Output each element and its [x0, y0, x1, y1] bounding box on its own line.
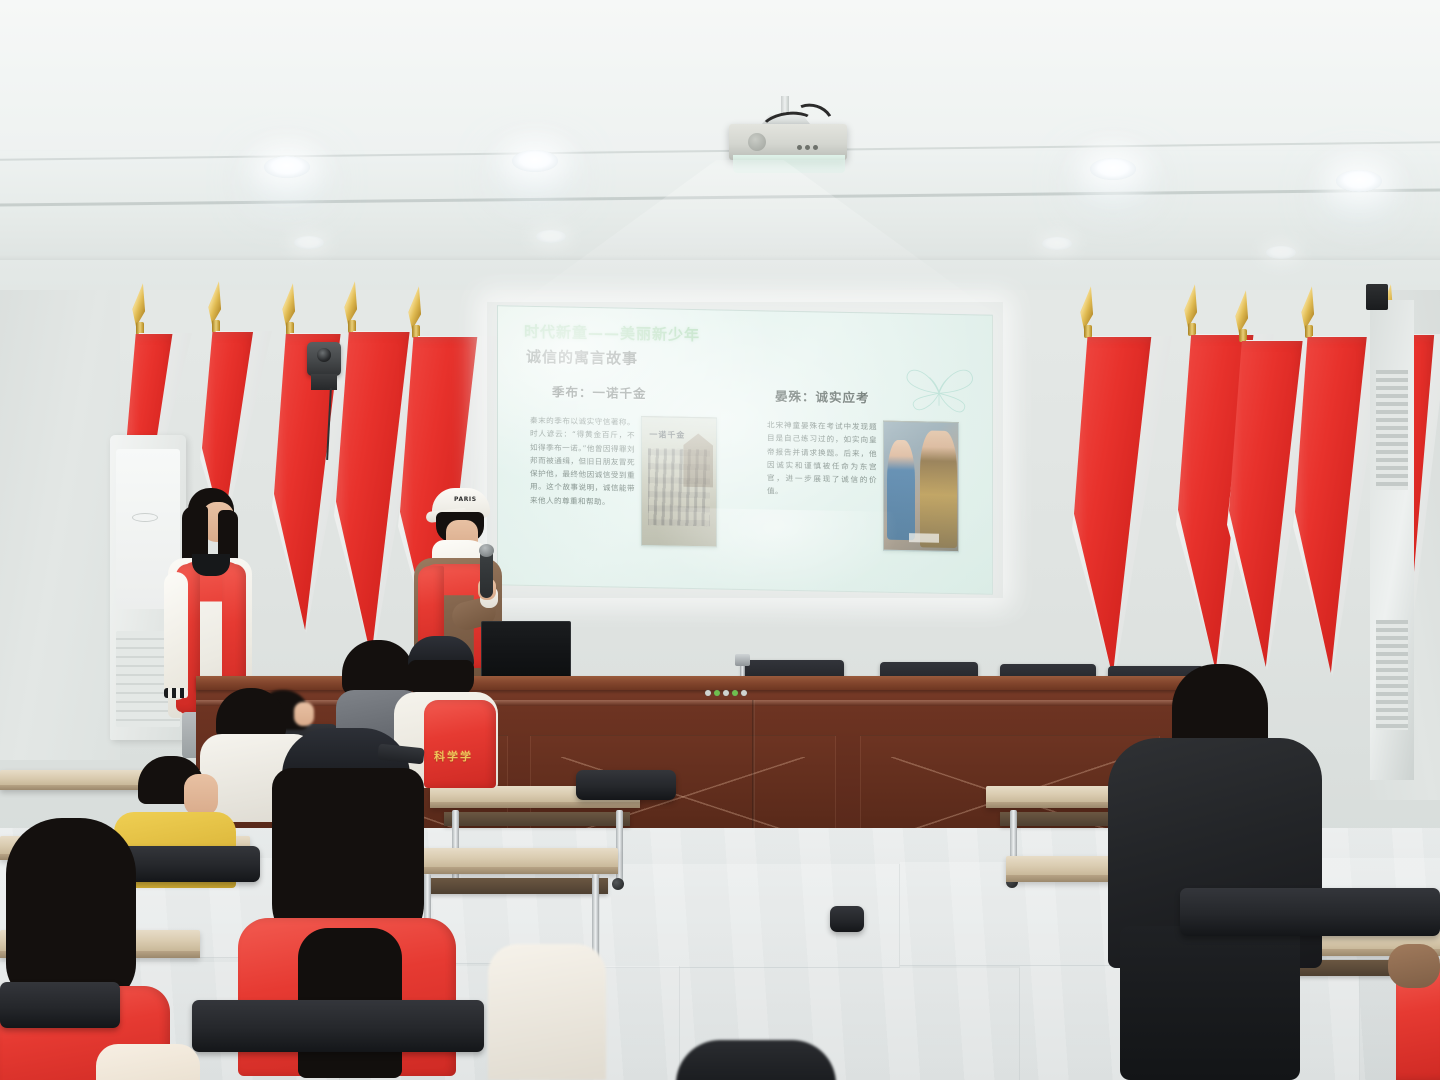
- ceiling-downlight: [1266, 246, 1296, 259]
- ceiling-downlight: [1090, 158, 1136, 180]
- slide-image-caption: 一诺千金: [649, 429, 685, 441]
- projector-lens: [748, 133, 766, 151]
- slide-column-heading: 季布：一诺千金: [552, 381, 730, 403]
- ceiling-downlight: [1042, 237, 1072, 250]
- audience-adult-right: [1096, 664, 1326, 1080]
- student-seat: [830, 906, 864, 932]
- ceiling-downlight: [294, 236, 324, 249]
- student-seat: [0, 982, 120, 1028]
- ceiling-cove: [0, 150, 1440, 260]
- butterfly-icon: [900, 358, 978, 425]
- cap-text: PARIS: [454, 496, 477, 503]
- slide-content: 时代新童——美丽新少年 诚信的寓言故事 季布：一诺千金 秦末的季布以诚实守信著称…: [512, 315, 984, 588]
- slide-banner: 时代新童——美丽新少年: [524, 321, 764, 346]
- audience-partial-right: [1396, 944, 1440, 1080]
- ceiling-downlight: [264, 156, 310, 178]
- classroom-scene: 时代新童——美丽新少年 诚信的寓言故事 季布：一诺千金 秦末的季布以诚实守信著称…: [0, 0, 1440, 1080]
- student-seat: [576, 770, 676, 800]
- projector-ports: [797, 137, 837, 147]
- student-foreground: [676, 1040, 836, 1080]
- slide-background-graphic: [654, 507, 899, 594]
- slide-column-body: 秦末的季布以诚实守信著称。时人谚云：“得黄金百斤，不如得季布一诺。”他曾因得罪刘…: [530, 414, 635, 546]
- slide-title: 诚信的寓言故事: [526, 346, 638, 369]
- wall-vent-grille: [1376, 370, 1408, 490]
- student-front-left: [0, 818, 190, 1080]
- podium-control-panel[interactable]: [705, 688, 757, 697]
- student-seat: [192, 1000, 484, 1052]
- ptz-camera: [307, 342, 341, 376]
- ac-logo: [132, 513, 158, 522]
- wall-mounted-device: [1366, 284, 1388, 310]
- right-wall-column: [1370, 300, 1414, 780]
- wall-vent-grille: [1376, 620, 1408, 730]
- camera-lens-icon: [317, 348, 331, 362]
- ceiling-downlight: [512, 150, 558, 172]
- projection-screen: 时代新童——美丽新少年 诚信的寓言故事 季布：一诺千金 秦末的季布以诚实守信著称…: [497, 305, 993, 595]
- student-seat: [1180, 888, 1440, 936]
- ceiling-downlight: [1336, 170, 1382, 192]
- projector-light-output: [733, 155, 845, 173]
- slide-banner-text: 时代新童——美丽新少年: [524, 320, 700, 344]
- student-foreground: [488, 944, 608, 1080]
- ceiling-downlight: [536, 230, 566, 243]
